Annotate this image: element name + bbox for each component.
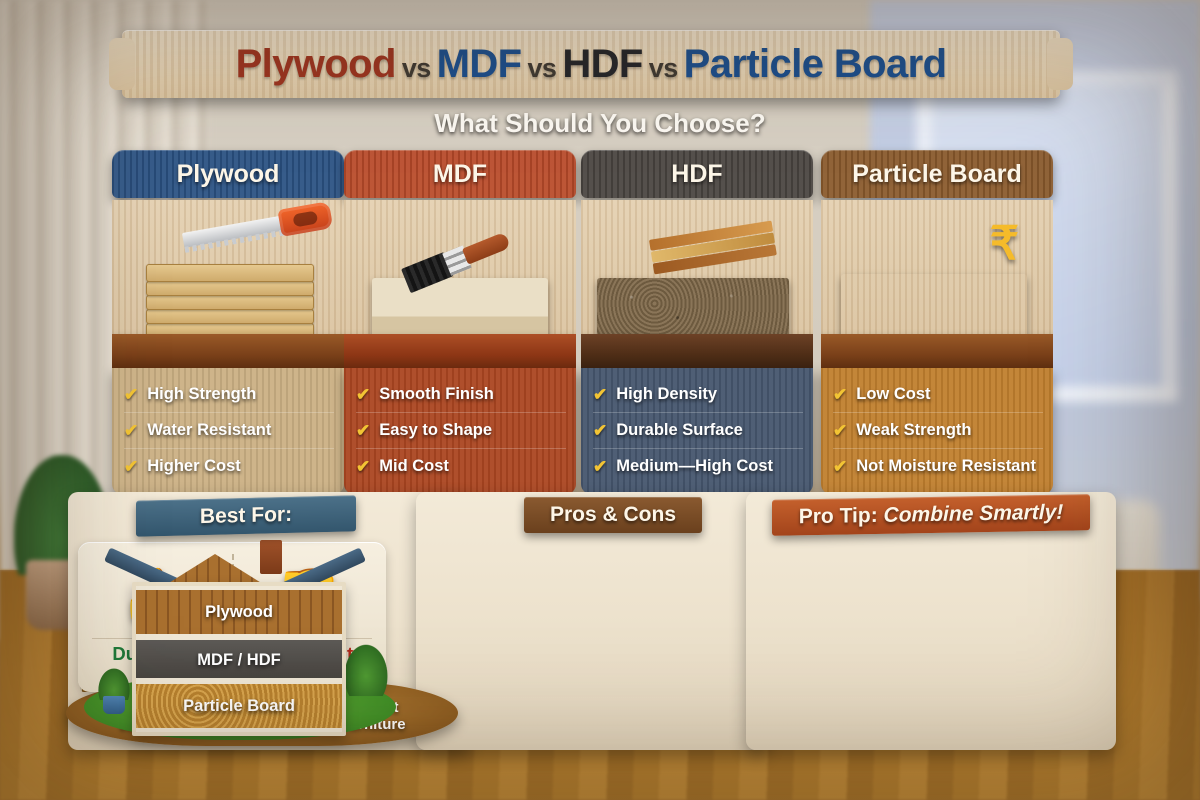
rupee-icon: ₹ [990,216,1019,270]
check-icon: ✔ [833,457,847,477]
house-layer-label: Plywood [205,603,273,622]
house-cutaway-diagram: Structure Plywood MDF / HDF Particle Boa… [92,540,388,736]
title-plywood: Plywood [236,42,396,86]
check-icon: ✔ [593,421,607,441]
feature-item: ✔Weak Strength [833,413,1043,449]
house-layer-mdf-hdf: MDF / HDF [136,640,342,680]
feature-item: ✔Low Cost [833,377,1043,413]
pro-tip-emphasis: Combine Smartly! [884,501,1064,527]
material-column-particle-board[interactable]: Particle Board ₹ ✔Low Cost ✔Weak Strengt… [821,150,1053,494]
feature-item: ✔Durable Surface [593,413,803,449]
house-body: Plywood MDF / HDF Particle Board [132,582,346,736]
pro-tip-ribbon: Pro Tip: Combine Smartly! [772,494,1090,536]
shelf-mdf [344,334,576,368]
flooring-planks-icon [649,221,777,276]
check-icon: ✔ [356,421,370,441]
feature-label: Weak Strength [856,421,971,440]
bush-icon [344,644,388,696]
feature-label: High Density [616,385,717,404]
shelf-plywood [112,334,344,368]
feature-label: Water Resistant [147,421,271,440]
page-subtitle: What Should You Choose? [0,108,1200,139]
column-header-mdf: MDF [344,150,576,198]
feature-item: ✔High Density [593,377,803,413]
feature-label: Not Moisture Resistant [856,457,1036,476]
feature-list-plywood: ✔High Strength ✔Water Resistant ✔Higher … [112,368,344,494]
check-icon: ✔ [356,457,370,477]
check-icon: ✔ [833,385,847,405]
column-title-particle-board: Particle Board [852,160,1022,189]
column-photo-particle-board: ₹ [821,200,1053,368]
feature-item: ✔Higher Cost [124,449,334,484]
house-layer-plywood: Plywood [136,590,342,634]
feature-label: Higher Cost [147,457,241,476]
check-icon: ✔ [124,385,138,405]
check-icon: ✔ [833,421,847,441]
pros-cons-ribbon-label: Pros & Cons [550,503,676,527]
best-for-ribbon-label: Best For: [200,503,292,529]
best-for-ribbon: Best For: [136,495,356,536]
title-vs-2: vs [522,53,563,83]
check-icon: ✔ [593,385,607,405]
feature-item: ✔Mid Cost [356,449,566,484]
house-layer-label: MDF / HDF [197,651,280,670]
bottom-section: Kitchens & Wardrobes Decor Panels Budget… [56,492,1116,760]
feature-list-mdf: ✔Smooth Finish ✔Easy to Shape ✔Mid Cost [344,368,576,494]
material-column-mdf[interactable]: MDF ✔Smooth Finish ✔Easy to Shape ✔Mid C… [344,150,576,494]
column-title-hdf: HDF [671,160,722,189]
column-title-mdf: MDF [433,160,487,189]
column-photo-hdf [581,200,813,368]
pros-cons-ribbon: Pros & Cons [524,497,702,533]
house-layer-label: Particle Board [183,697,295,716]
pro-tip-prefix: Pro Tip: [799,504,878,528]
title-particle-board: Particle Board [684,42,947,86]
column-photo-plywood [112,200,344,368]
column-header-hdf: HDF [581,150,813,198]
infographic-canvas: PlywoodvsMDFvsHDFvsParticle Board What S… [0,0,1200,800]
plywood-stack-icon [146,268,312,338]
hdf-slab-icon [597,278,789,342]
feature-item: ✔Easy to Shape [356,413,566,449]
feature-label: Easy to Shape [379,421,492,440]
feature-label: Medium—High Cost [616,457,773,476]
feature-label: Durable Surface [616,421,743,440]
feature-item: ✔Medium—High Cost [593,449,803,484]
column-header-plywood: Plywood [112,150,344,198]
check-icon: ✔ [124,421,138,441]
mdf-slab-icon [372,278,548,340]
title-vs-1: vs [396,53,437,83]
feature-list-hdf: ✔High Density ✔Durable Surface ✔Medium—H… [581,368,813,494]
column-title-plywood: Plywood [177,160,280,189]
page-title: PlywoodvsMDFvsHDFvsParticle Board [236,42,947,87]
title-mdf: MDF [437,42,522,86]
material-column-plywood[interactable]: Plywood ✔High Strength ✔Water Resistant … [112,150,344,494]
check-icon: ✔ [124,457,138,477]
check-icon: ✔ [356,385,370,405]
title-hdf: HDF [562,42,642,86]
feature-item: ✔High Strength [124,377,334,413]
feature-item: ✔Smooth Finish [356,377,566,413]
column-photo-mdf [344,200,576,368]
shelf-hdf [581,334,813,368]
column-header-particle-board: Particle Board [821,150,1053,198]
feature-label: Low Cost [856,385,930,404]
feature-list-particle-board: ✔Low Cost ✔Weak Strength ✔Not Moisture R… [821,368,1053,494]
feature-item: ✔Not Moisture Resistant [833,449,1043,484]
check-icon: ✔ [593,457,607,477]
material-columns: Plywood ✔High Strength ✔Water Resistant … [76,150,1126,490]
pro-tip-ribbon-label: Pro Tip: Combine Smartly! [799,501,1064,530]
material-column-hdf[interactable]: HDF ✔High Density ✔Durable Surface ✔Medi… [581,150,813,494]
feature-label: High Strength [147,385,256,404]
potted-plant-icon [98,668,130,714]
feature-label: Mid Cost [379,457,449,476]
shelf-particle-board [821,334,1053,368]
title-vs-3: vs [643,53,684,83]
saw-icon [181,201,333,253]
house-layer-particle-board: Particle Board [136,684,342,728]
feature-item: ✔Water Resistant [124,413,334,449]
title-plank: PlywoodvsMDFvsHDFvsParticle Board [122,30,1060,98]
feature-label: Smooth Finish [379,385,494,404]
